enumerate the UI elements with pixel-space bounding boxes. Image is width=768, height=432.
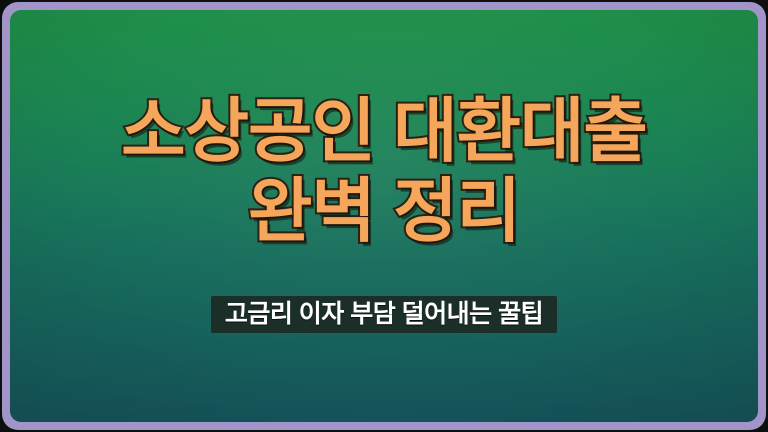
thumbnail-card: 소상공인 대환대출 완벽 정리 고금리 이자 부담 덜어내는 꿀팁 — [0, 0, 768, 432]
subtitle-band: 고금리 이자 부담 덜어내는 꿀팁 — [211, 296, 557, 333]
subtitle-wrap: 고금리 이자 부담 덜어내는 꿀팁 — [10, 296, 758, 333]
title-block: 소상공인 대환대출 완벽 정리 — [10, 92, 758, 250]
card-frame-border: 소상공인 대환대출 완벽 정리 고금리 이자 부담 덜어내는 꿀팁 — [2, 2, 766, 430]
title-line-2: 완벽 정리 — [10, 172, 758, 250]
title-line-1: 소상공인 대환대출 — [10, 92, 758, 170]
thumbnail-stage: 소상공인 대환대출 완벽 정리 고금리 이자 부담 덜어내는 꿀팁 — [10, 10, 758, 422]
